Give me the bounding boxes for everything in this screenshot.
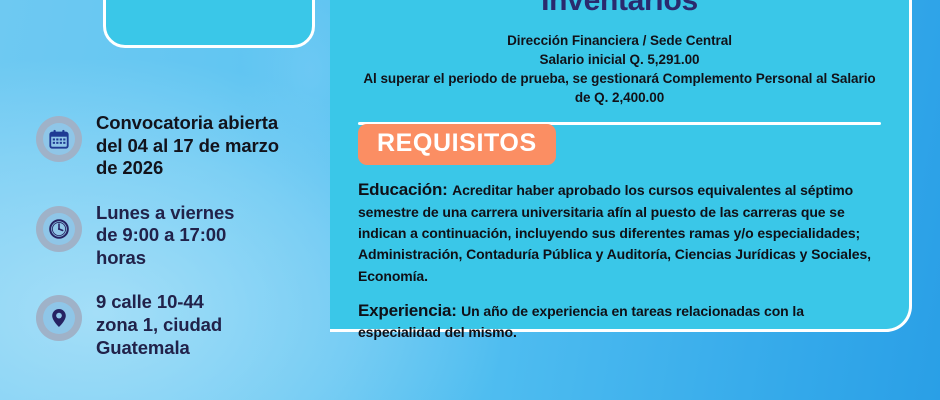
requirement-educacion: Educación: Acreditar haber aprobado los … xyxy=(358,179,879,287)
requirement-label: Experiencia: xyxy=(358,301,457,320)
requirement-label: Educación: xyxy=(358,180,448,199)
info-line: Convocatoria abierta xyxy=(96,112,278,133)
job-meta-block: Dirección Financiera / Sede Central Sala… xyxy=(354,31,885,108)
page-title: Inventarios xyxy=(354,0,885,17)
requirements-badge-wrap: REQUISITOS xyxy=(354,125,885,165)
job-detail-card: Inventarios Dirección Financiera / Sede … xyxy=(330,0,912,332)
job-salary-note-line2: de Q. 2,400.00 xyxy=(354,88,885,107)
requirements-section-badge: REQUISITOS xyxy=(358,124,556,165)
info-item-text: 9 calle 10-44 zona 1, ciudad Guatemala xyxy=(96,291,234,359)
info-line: Lunes a viernes xyxy=(96,202,234,223)
info-line: zona 1, ciudad xyxy=(96,314,222,335)
info-line: horas xyxy=(96,247,146,268)
info-item-convocatoria: Convocatoria abierta del 04 al 17 de mar… xyxy=(0,112,330,180)
info-line: del 04 al 17 de marzo xyxy=(96,135,279,156)
info-line: de 9:00 a 17:00 xyxy=(96,224,226,245)
info-line: 9 calle 10-44 xyxy=(96,291,204,312)
requirement-experiencia: Experiencia: Un año de experiencia en ta… xyxy=(358,300,879,344)
job-salary-note-line1: Al superar el periodo de prueba, se gest… xyxy=(354,69,885,88)
info-item-direccion: 9 calle 10-44 zona 1, ciudad Guatemala xyxy=(0,291,330,359)
job-salary: Salario inicial Q. 5,291.00 xyxy=(354,50,885,69)
info-line: de 2026 xyxy=(96,157,163,178)
info-item-text: Lunes a viernes de 9:00 a 17:00 horas xyxy=(96,202,246,270)
info-list: Convocatoria abierta del 04 al 17 de mar… xyxy=(0,112,330,381)
job-department: Dirección Financiera / Sede Central xyxy=(354,31,885,50)
page-title-line2: Inventarios xyxy=(354,0,885,17)
requirements-body: Educación: Acreditar haber aprobado los … xyxy=(354,179,885,344)
info-item-text: Convocatoria abierta del 04 al 17 de mar… xyxy=(96,112,291,180)
job-code-badge: 40643 xyxy=(103,0,315,48)
info-item-horario: Lunes a viernes de 9:00 a 17:00 horas xyxy=(0,202,330,270)
clock-icon xyxy=(36,206,82,252)
sidebar: 40643 xyxy=(0,0,330,400)
calendar-icon xyxy=(36,116,82,162)
location-pin-icon xyxy=(36,295,82,341)
info-line: Guatemala xyxy=(96,337,190,358)
